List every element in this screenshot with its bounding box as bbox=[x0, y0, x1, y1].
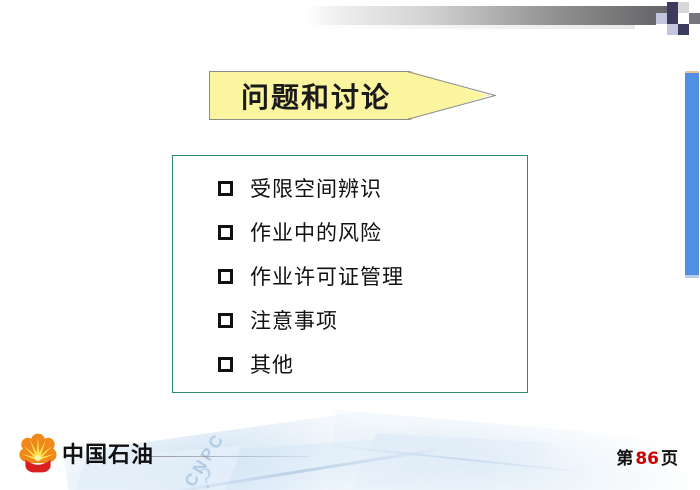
blue-accent-foot-icon bbox=[685, 275, 699, 278]
list-item[interactable]: 注意事项 bbox=[218, 298, 518, 342]
list-item[interactable]: 受限空间辨识 bbox=[218, 166, 518, 210]
title-banner: 问题和讨论 bbox=[209, 71, 489, 120]
watermark-streak-icon bbox=[331, 444, 590, 473]
list-item-label: 作业中的风险 bbox=[250, 217, 382, 247]
slide-canvas: 问题和讨论 受限空间辨识 作业中的风险 作业许可证管理 注意事项 其他 ? C bbox=[0, 0, 700, 490]
list-item-label: 作业许可证管理 bbox=[250, 261, 404, 291]
hollow-square-icon bbox=[218, 225, 233, 240]
watermark-streak-icon bbox=[152, 447, 449, 490]
gradient-bar-icon bbox=[305, 6, 673, 25]
watermark-cnpc-text: CNPC bbox=[181, 429, 230, 490]
footer-divider bbox=[150, 456, 310, 457]
bullet-list: 受限空间辨识 作业中的风险 作业许可证管理 注意事项 其他 bbox=[218, 166, 518, 386]
page-number-prefix: 第 bbox=[616, 449, 633, 469]
list-item[interactable]: 作业中的风险 bbox=[218, 210, 518, 254]
page-number-suffix: 页 bbox=[661, 449, 678, 469]
gradient-bar-tail-icon bbox=[305, 25, 635, 29]
hollow-square-icon bbox=[218, 357, 233, 372]
hollow-square-icon bbox=[218, 313, 233, 328]
petrochina-logo-icon bbox=[17, 432, 59, 474]
watermark-mark: ? bbox=[196, 461, 217, 490]
list-item[interactable]: 作业许可证管理 bbox=[218, 254, 518, 298]
watermark-card-icon bbox=[347, 433, 553, 490]
page-number: 第86页 bbox=[616, 444, 678, 469]
blue-accent-bar-icon bbox=[685, 73, 699, 275]
watermark-card-icon bbox=[179, 439, 386, 490]
list-item-label: 其他 bbox=[250, 349, 294, 379]
list-item[interactable]: 其他 bbox=[218, 342, 518, 386]
brand-name: 中国石油 bbox=[62, 437, 154, 469]
hollow-square-icon bbox=[218, 181, 233, 196]
page-number-value: 86 bbox=[635, 449, 659, 469]
list-item-label: 受限空间辨识 bbox=[250, 173, 382, 203]
list-item-label: 注意事项 bbox=[250, 305, 338, 335]
page-title: 问题和讨论 bbox=[241, 71, 391, 120]
hollow-square-icon bbox=[218, 269, 233, 284]
